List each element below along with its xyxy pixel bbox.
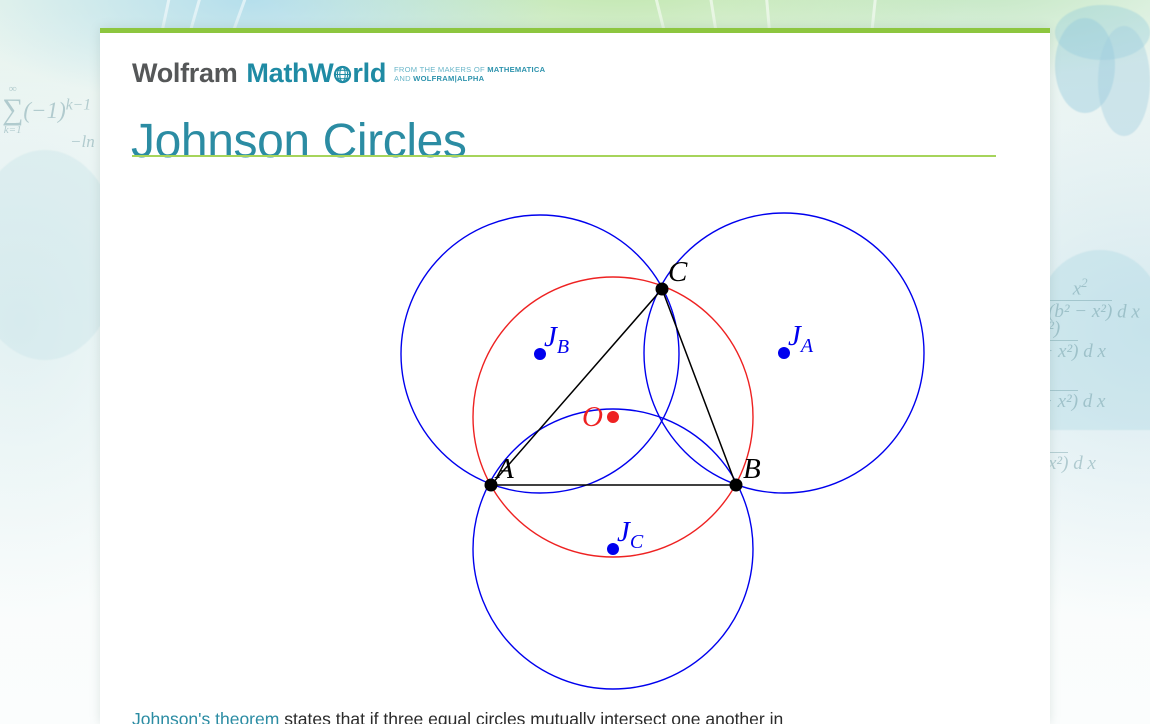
globe-o-icon [333,65,352,84]
background-formula-integral: x2 (b² − x²) d x [1048,275,1140,323]
vertex-dot-C [656,283,669,296]
article-body-paragraph: Johnson's theorem states that if three e… [132,706,1012,724]
triangle-ABC [491,289,736,485]
tagline-line-1: FROM THE MAKERS OF MATHEMATICA [394,65,545,74]
label-O: O [582,401,603,433]
background-formula-sum: ∞ ∑ k=1 (−1)k−1 [2,84,91,136]
label-JA: JA [788,320,814,357]
background-formula-ln: −ln [70,132,95,152]
tagline-line-2: AND WOLFRAM|ALPHA [394,74,545,83]
label-C: C [668,256,688,288]
label-JC: JC [617,516,644,553]
johnson-circles-svg: JA JB JC O A B C [100,153,1050,693]
label-JB: JB [544,321,569,358]
label-B: B [743,453,761,485]
vertex-dot-B [730,479,743,492]
site-tagline: FROM THE MAKERS OF MATHEMATICA AND WOLFR… [394,65,545,84]
site-logo[interactable]: Wolfram MathWrld FROM THE MAKERS OF MATH… [132,60,545,87]
background-formula-integral: x²) d x [1048,430,1096,475]
brand-mathworld-text: MathWrld [246,60,386,87]
content-panel: Wolfram MathWrld FROM THE MAKERS OF MATH… [100,28,1050,724]
label-A: A [494,453,514,485]
body-rest-text: states that if three equal circles mutua… [279,709,783,724]
center-dot-O [607,411,619,423]
link-johnsons-theorem[interactable]: Johnson's theorem [132,709,279,724]
johnson-circles-figure[interactable]: JA JB JC O A B C [100,153,1050,693]
decorative-blob [1098,26,1150,136]
brand-wolfram-text: Wolfram [132,60,237,87]
